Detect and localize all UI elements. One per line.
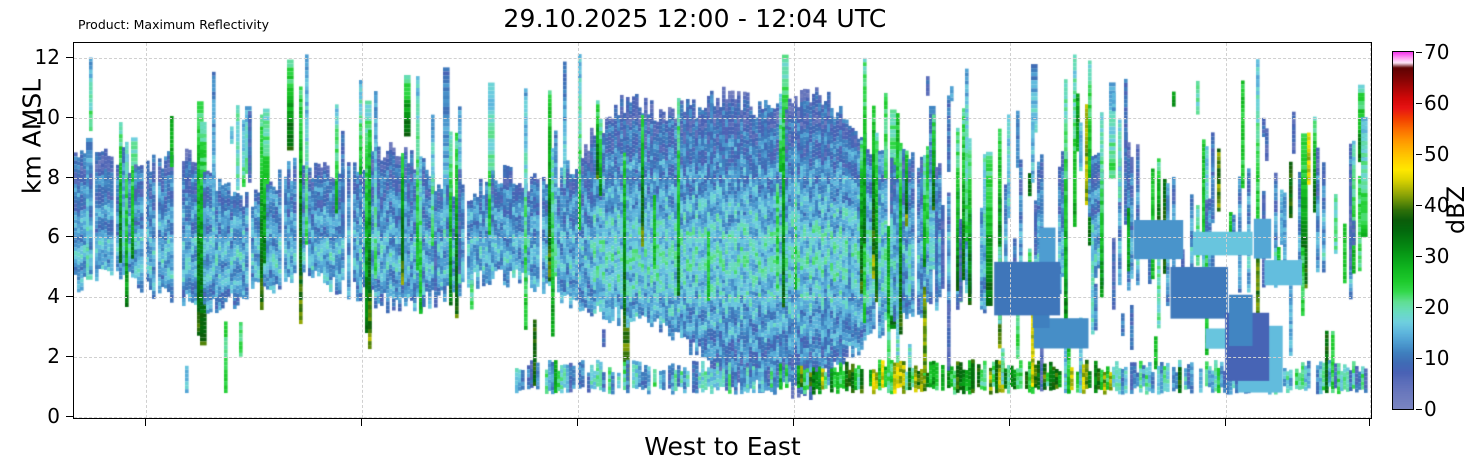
product-annotation: Product: Maximum Reflectivity (78, 17, 269, 32)
y-tick-mark (66, 296, 73, 297)
x-tick-mark (145, 419, 146, 426)
y-tick-mark (66, 236, 73, 237)
plot-area (73, 42, 1372, 419)
y-tick-mark (66, 177, 73, 178)
colorbar-tick-mark (1416, 409, 1422, 410)
x-tick-mark (1009, 419, 1010, 426)
y-tick-mark (66, 356, 73, 357)
x-tick-mark (361, 419, 362, 426)
colorbar-tick-label: 20 (1424, 295, 1449, 319)
y-tick-mark (66, 416, 73, 417)
colorbar-tick-mark (1416, 307, 1422, 308)
colorbar-gradient (1392, 51, 1414, 410)
colorbar-tick-mark (1416, 154, 1422, 155)
colorbar-tick-mark (1416, 205, 1422, 206)
y-tick-label: 6 (47, 224, 60, 248)
colorbar-label: dBZ (1442, 150, 1470, 270)
colorbar-tick-label: 0 (1424, 397, 1437, 421)
x-tick-mark (1225, 419, 1226, 426)
colorbar-tick-label: 70 (1424, 40, 1449, 64)
colorbar-tick-label: 10 (1424, 346, 1449, 370)
x-axis-label: West to East (73, 432, 1372, 461)
radar-cross-section-figure: 29.10.2025 12:00 - 12:04 UTC Product: Ma… (0, 0, 1482, 470)
y-tick-label: 2 (47, 344, 60, 368)
colorbar-tick-mark (1416, 52, 1422, 53)
x-tick-mark (577, 419, 578, 426)
gridline-horizontal (74, 417, 1371, 418)
gridline-vertical (1370, 43, 1371, 418)
y-tick-label: 4 (47, 284, 60, 308)
y-tick-label: 0 (47, 404, 60, 428)
y-tick-label: 12 (35, 45, 60, 69)
x-tick-mark (793, 419, 794, 426)
y-tick-label: 10 (35, 105, 60, 129)
colorbar: 010203040506070 (1392, 51, 1414, 410)
colorbar-tick-mark (1416, 358, 1422, 359)
colorbar-tick-label: 60 (1424, 91, 1449, 115)
colorbar-tick-mark (1416, 103, 1422, 104)
y-tick-mark (66, 117, 73, 118)
colorbar-tick-mark (1416, 256, 1422, 257)
reflectivity-heatmap (74, 43, 1370, 417)
y-tick-label: 8 (47, 165, 60, 189)
x-tick-mark (1369, 419, 1370, 426)
y-tick-mark (66, 57, 73, 58)
